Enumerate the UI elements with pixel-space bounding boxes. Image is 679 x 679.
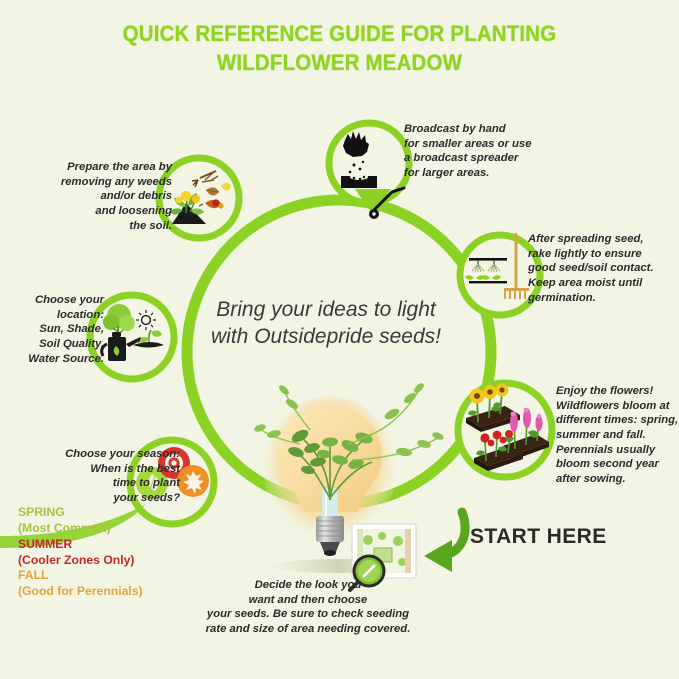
garden-plan-card: [352, 524, 416, 578]
node-decide-look: [327, 548, 351, 572]
season-fall-name: FALL: [18, 568, 193, 584]
cycle-ring: [187, 200, 491, 504]
infographic-canvas: QUICK REFERENCE GUIDE FOR PLANTING WILDF…: [0, 0, 679, 679]
caption-enjoy-flowers: Enjoy the flowers! Wildflowers bloom at …: [556, 384, 679, 487]
caption-broadcast-seed-text: Broadcast by hand for smaller areas or u…: [404, 123, 531, 179]
center-slogan: Bring your ideas to light with Outsidepr…: [176, 296, 476, 351]
season-fall-note: (Good for Perennials): [18, 584, 193, 600]
start-here-arrow: [424, 512, 465, 572]
caption-choose-season-text: Choose your season: When is the best tim…: [65, 448, 180, 504]
caption-rake-water: After spreading seed, rake lightly to en…: [528, 232, 678, 305]
caption-rake-water-text: After spreading seed, rake lightly to en…: [528, 233, 654, 304]
caption-prepare-area-text: Prepare the area by removing any weeds a…: [61, 161, 172, 232]
season-list: SPRING (Most Common) SUMMER (Cooler Zone…: [18, 505, 193, 600]
slogan-line-1: Bring your ideas to light: [176, 296, 476, 323]
caption-decide-look: Decide the look you want and then choose…: [178, 578, 438, 637]
season-summer-note: (Cooler Zones Only): [18, 553, 193, 569]
caption-choose-location-text: Choose your location: Sun, Shade, Soil Q…: [28, 294, 104, 365]
season-spring-name: SPRING: [18, 505, 193, 521]
slogan-line-2: with Outsidepride seeds!: [176, 323, 476, 350]
caption-choose-location: Choose your location: Sun, Shade, Soil Q…: [8, 293, 104, 366]
caption-decide-look-text: Decide the look you want and then choose…: [206, 579, 411, 635]
start-here-text: START HERE: [470, 525, 607, 548]
page-title: QUICK REFERENCE GUIDE FOR PLANTING WILDF…: [24, 20, 655, 77]
caption-broadcast-seed: Broadcast by hand for smaller areas or u…: [404, 122, 564, 181]
caption-enjoy-flowers-text: Enjoy the flowers! Wildflowers bloom at …: [556, 385, 678, 485]
season-spring-note: (Most Common): [18, 521, 193, 537]
title-line-2: WILDFLOWER MEADOW: [24, 49, 655, 78]
season-summer-name: SUMMER: [18, 537, 193, 553]
title-line-1: QUICK REFERENCE GUIDE FOR PLANTING: [123, 21, 557, 46]
caption-prepare-area: Prepare the area by removing any weeds a…: [46, 160, 172, 233]
start-here-label: START HERE: [470, 525, 607, 549]
node-enjoy-flowers: [458, 383, 552, 477]
caption-choose-season: Choose your season: When is the best tim…: [12, 447, 180, 506]
node-broadcast-seed: [329, 123, 409, 219]
